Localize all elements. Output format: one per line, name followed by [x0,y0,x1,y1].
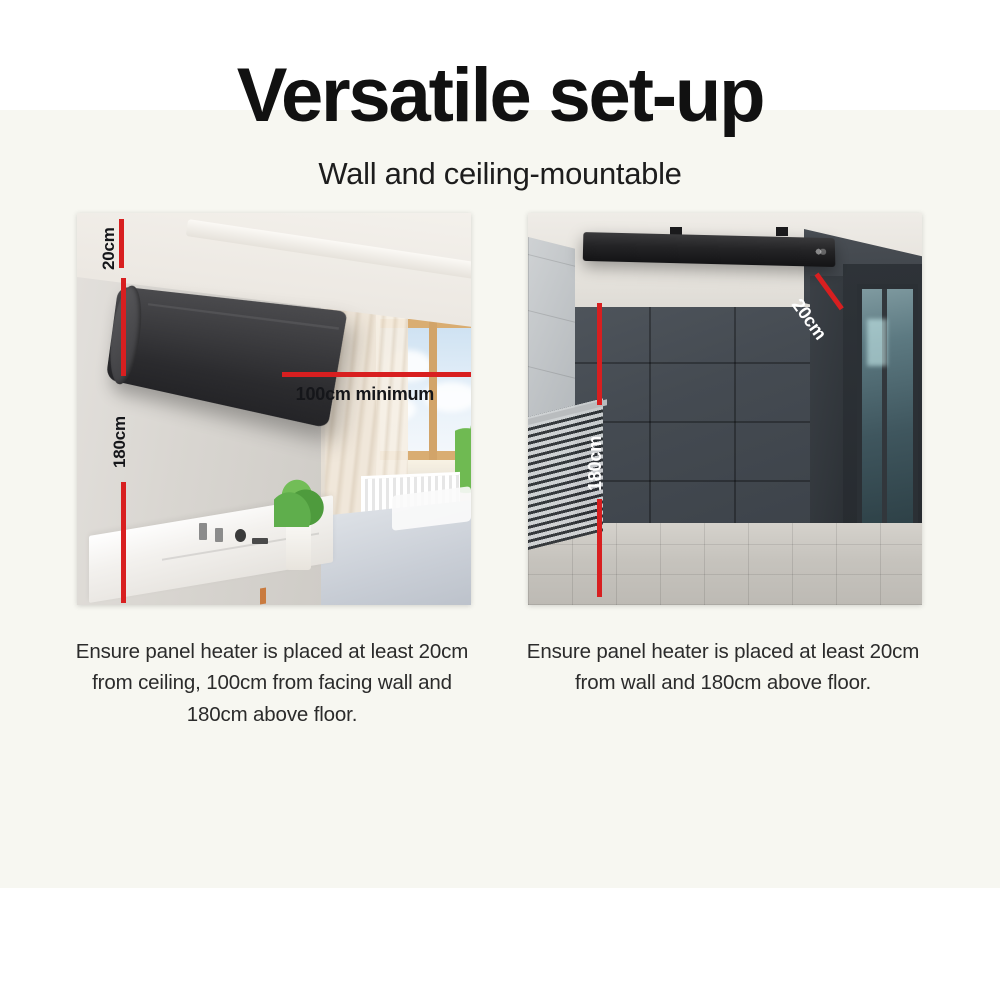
glass-reflection [867,319,887,366]
facing-wall-line [282,372,471,377]
top-clearance-line [119,219,124,268]
bedroom-scene [77,213,471,605]
floor-clearance-line-lower [597,499,602,597]
facing-wall-label: 100cm minimum [296,384,434,405]
ceiling-mounted-heater [583,232,836,267]
decor-object [235,529,246,542]
page-subtitle: Wall and ceiling-mountable [0,156,1000,192]
floor-clearance-label: 180cm [110,416,130,468]
top-clearance-label: 20cm [99,227,119,270]
decor-object [252,538,268,544]
floor-clearance-line-lower [121,482,126,604]
tiled-back-wall [567,307,815,527]
heater-bracket [776,227,788,236]
balcony-scene [528,213,922,605]
page-title: Versatile set-up [0,58,1000,134]
wall-mount-caption: Ensure panel heater is placed at least 2… [72,636,472,730]
tile-seam [649,307,651,527]
decor-object [199,523,207,540]
heading-block: Versatile set-up Wall and ceiling-mounta… [0,58,1000,192]
floor-clearance-label: 180cm [585,436,606,491]
tile-seam [567,421,815,423]
floor-clearance-line-upper [597,303,602,405]
tile-seam [567,362,815,364]
product-feature-page: Versatile set-up Wall and ceiling-mounta… [0,0,1000,1000]
wall-mount-photo: 20cm 180cm 100cm minimum [77,213,471,605]
ceiling-mount-photo: 180cm 20cm [528,213,922,605]
floor-clearance-line-upper [121,278,126,376]
sideboard-leg [260,588,266,605]
ceiling-mount-caption: Ensure panel heater is placed at least 2… [523,636,923,699]
plant [274,476,325,527]
decor-object [215,528,223,542]
tile-seam [734,307,736,527]
